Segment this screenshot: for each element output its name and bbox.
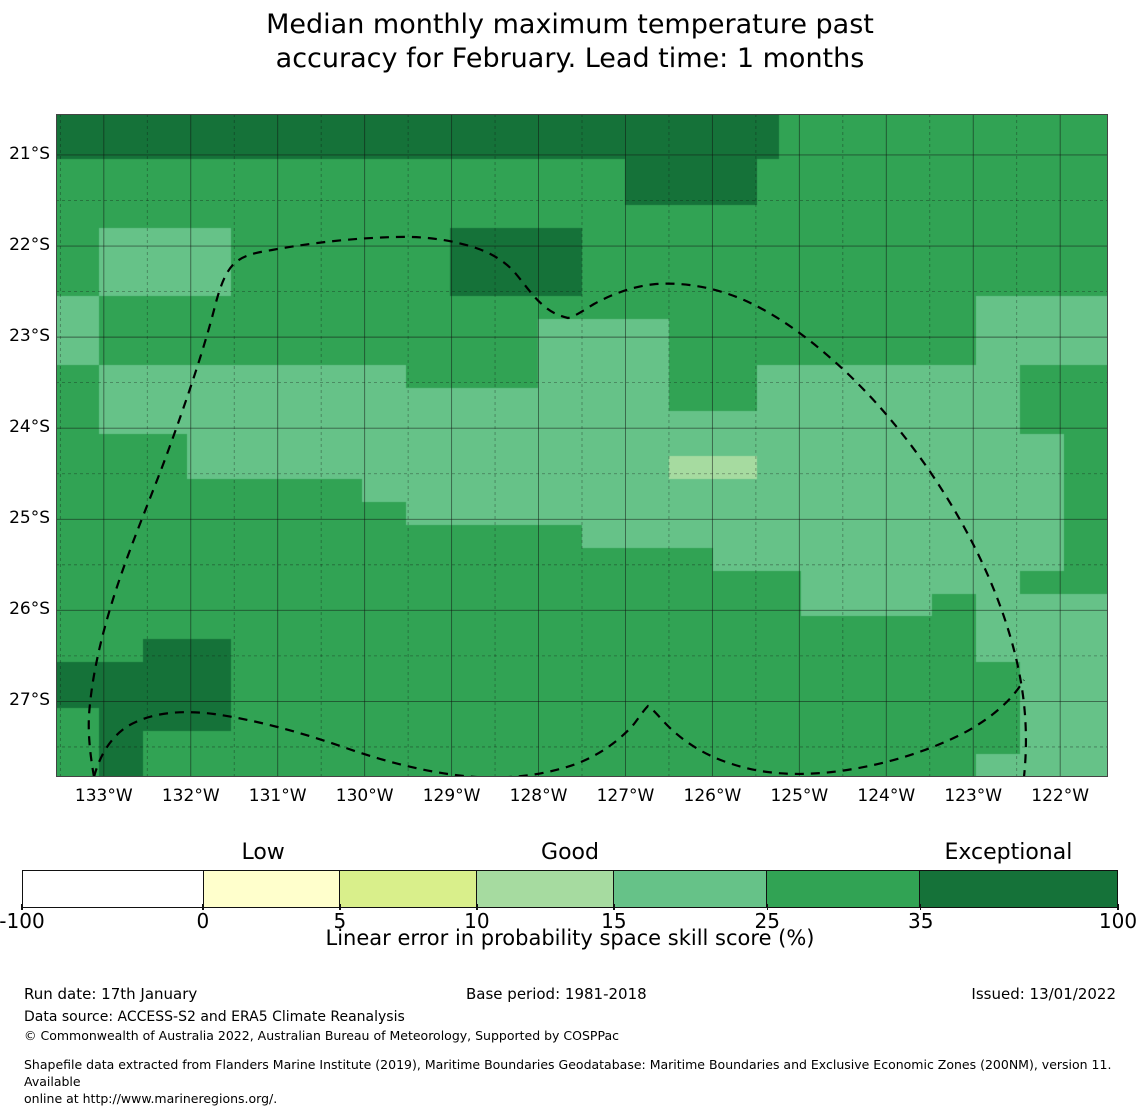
y-tick-label: 27°S	[0, 692, 50, 709]
colorbar-tick-mark	[1117, 904, 1119, 910]
colorbar-segment[interactable]	[920, 871, 1117, 907]
y-tick-label: 23°S	[0, 328, 50, 345]
colorbar-axis-label: Linear error in probability space skill …	[0, 926, 1140, 950]
colorbar-tick-mark	[920, 904, 922, 910]
x-tick-label: 133°W	[75, 786, 133, 806]
colorbar-segment[interactable]	[23, 871, 204, 907]
colorbar-quality-label: Low	[241, 840, 284, 866]
x-tick-label: 132°W	[162, 786, 220, 806]
run-date-text: Run date: 17th January	[24, 985, 197, 1003]
colorbar-tick-mark	[339, 904, 341, 910]
x-tick-label: 127°W	[597, 786, 655, 806]
colorbar-quality-label: Good	[541, 840, 599, 866]
x-tick-label: 123°W	[944, 786, 1002, 806]
copyright-text: © Commonwealth of Australia 2022, Austra…	[24, 1027, 1116, 1044]
map-plot-area[interactable]	[56, 114, 1108, 777]
y-axis-ticks: 21°S22°S23°S24°S25°S26°S27°S	[0, 114, 50, 777]
x-tick-label: 125°W	[770, 786, 828, 806]
y-tick-label: 22°S	[0, 237, 50, 254]
x-tick-label: 130°W	[336, 786, 394, 806]
x-axis-ticks: 133°W132°W131°W130°W129°W128°W127°W126°W…	[56, 786, 1108, 810]
data-source-text: Data source: ACCESS-S2 and ERA5 Climate …	[24, 1007, 1116, 1027]
y-tick-label: 24°S	[0, 419, 50, 436]
footer: Run date: 17th January Base period: 1981…	[0, 985, 1140, 1107]
colorbar-segment[interactable]	[477, 871, 614, 907]
y-tick-label: 25°S	[0, 510, 50, 527]
colorbar-tick-mark	[202, 904, 204, 910]
x-tick-label: 128°W	[510, 786, 568, 806]
colorbar-tick-mark	[767, 904, 769, 910]
shapefile-credit-line-1: Shapefile data extracted from Flanders M…	[24, 1056, 1116, 1090]
y-tick-label: 21°S	[0, 146, 50, 163]
title-line-1: Median monthly maximum temperature past	[0, 8, 1140, 42]
colorbar-tick-mark	[21, 904, 23, 910]
footer-meta-row: Run date: 17th January Base period: 1981…	[24, 985, 1116, 1007]
x-tick-label: 129°W	[423, 786, 481, 806]
colorbar-segment[interactable]	[204, 871, 341, 907]
page-title: Median monthly maximum temperature past …	[0, 8, 1140, 76]
colorbar-quality-label: Exceptional	[944, 840, 1072, 866]
colorbar-tick-mark	[613, 904, 615, 910]
base-period-text: Base period: 1981-2018	[466, 985, 647, 1003]
shapefile-credit-line-2: online at http://www.marineregions.org/.	[24, 1090, 1116, 1107]
colorbar-quality-labels: LowGoodExceptional	[22, 840, 1118, 868]
x-tick-label: 124°W	[857, 786, 915, 806]
skill-score-heatmap	[56, 114, 1108, 777]
colorbar-strip[interactable]	[22, 870, 1118, 908]
x-tick-label: 122°W	[1031, 786, 1089, 806]
x-tick-label: 126°W	[684, 786, 742, 806]
y-tick-label: 26°S	[0, 601, 50, 618]
colorbar-segment[interactable]	[340, 871, 477, 907]
title-line-2: accuracy for February. Lead time: 1 mont…	[0, 42, 1140, 76]
colorbar-tick-mark	[476, 904, 478, 910]
issued-date-text: Issued: 13/01/2022	[971, 985, 1116, 1003]
colorbar-segment[interactable]	[614, 871, 767, 907]
colorbar-segment[interactable]	[767, 871, 920, 907]
x-tick-label: 131°W	[249, 786, 307, 806]
